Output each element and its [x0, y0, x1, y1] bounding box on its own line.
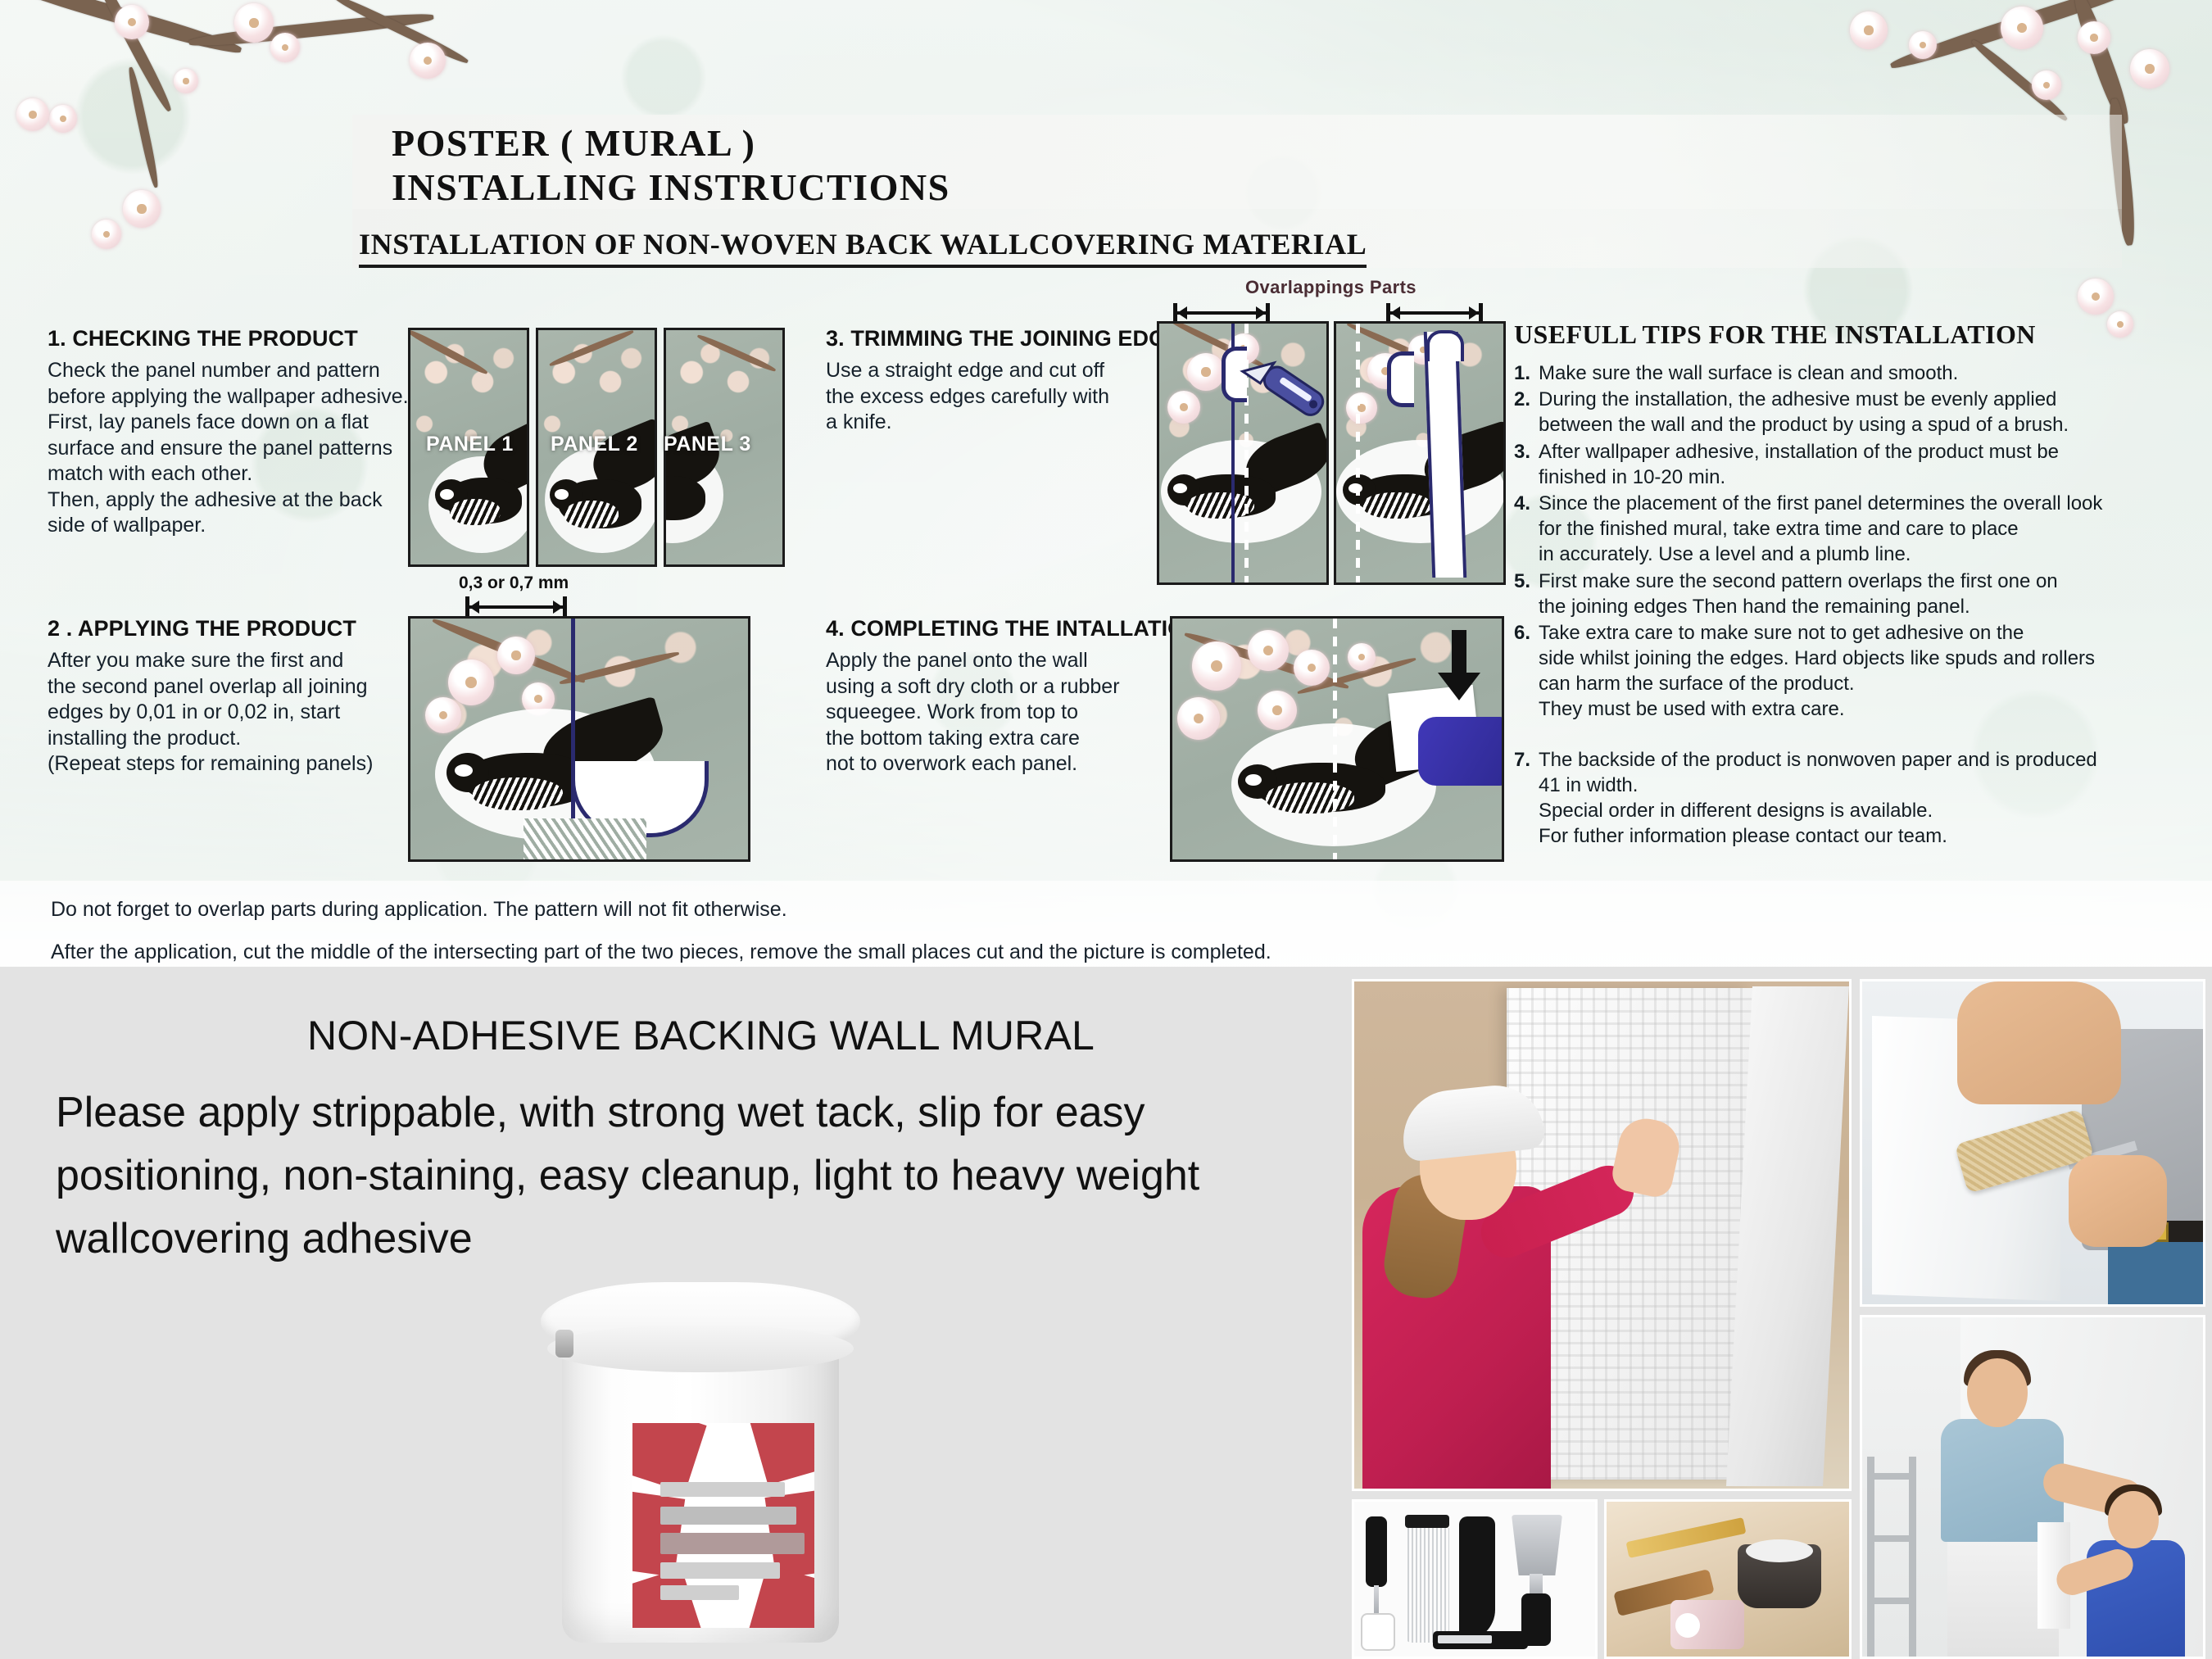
- tip-text: Take extra care to make sure not to get …: [1539, 620, 2095, 723]
- step-4-heading: 4. COMPLETING THE INTALLATION: [826, 616, 1170, 641]
- tip-line: The backside of the product is nonwoven …: [1539, 747, 2097, 773]
- overlap-measurement-label: 0,3 or 0,7 mm: [459, 573, 569, 593]
- photo-wallpaper-kit: [1604, 1499, 1852, 1659]
- diagram-step-3-knife: [1157, 321, 1329, 585]
- tip-line: in accurately. Use a level and a plumb l…: [1539, 542, 2102, 567]
- tip-number: 6.: [1514, 620, 1539, 723]
- seam-line-dashed: [1333, 619, 1337, 862]
- panel-2-label: PANEL 2: [551, 433, 638, 456]
- poster-subtitle: INSTALLATION OF NON-WOVEN BACK WALLCOVER…: [359, 227, 1367, 268]
- step-3-body: Use a straight edge and cut off the exce…: [826, 358, 1154, 436]
- tip-line: Special order in different designs is av…: [1539, 798, 2097, 823]
- note-line-2: After the application, cut the middle of…: [51, 941, 1271, 964]
- gloved-hand: [1418, 717, 1504, 786]
- tip-text: During the installation, the adhesive mu…: [1539, 387, 2069, 437]
- step-1-line-4: surface and ensure the panel patterns: [48, 436, 433, 462]
- cut-line-dashed: [1356, 324, 1360, 585]
- tip-number: 1.: [1514, 360, 1539, 386]
- ladder: [1867, 1457, 1916, 1659]
- diagram-step-2: [408, 616, 750, 862]
- step-1-text: 1. CHECKING THE PRODUCT Check the panel …: [48, 326, 433, 539]
- step-1-heading: 1. CHECKING THE PRODUCT: [48, 326, 433, 351]
- tip-text: Since the placement of the first panel d…: [1539, 491, 2102, 568]
- photo-collage: [1352, 979, 2205, 1659]
- tip-line: Make sure the wall surface is clean and …: [1539, 360, 1958, 386]
- step-4-line-1: Apply the panel onto the wall: [826, 648, 1170, 674]
- step-1-line-3: First, lay panels face down on a flat: [48, 410, 433, 436]
- tip-line: for the finished mural, take extra time …: [1539, 516, 2102, 542]
- overlap-ruler-right-icon: [1386, 303, 1483, 323]
- tip-line: For futher information please contact ou…: [1539, 823, 2097, 849]
- installation-poster: POSTER ( MURAL ) INSTALLING INSTRUCTIONS…: [0, 0, 2212, 1659]
- overlap-ruler-left-icon: [1173, 303, 1270, 323]
- diagram-step-4: [1170, 616, 1504, 862]
- step-4-line-5: not to overwork each panel.: [826, 751, 1170, 777]
- photo-roller-applying-paste: [1860, 979, 2205, 1307]
- tip-line: finished in 10-20 min.: [1539, 465, 2059, 490]
- tips-title: USEFULL TIPS FOR THE INSTALLATION: [1514, 320, 2036, 350]
- step-1-body: Check the panel number and pattern befor…: [48, 358, 433, 539]
- straight-edge-grip: [1387, 351, 1414, 407]
- tip-number: 3.: [1514, 439, 1539, 490]
- step-4-line-4: the bottom taking extra care: [826, 726, 1170, 752]
- product-copy-line-2: positioning, non-staining, easy cleanup,…: [56, 1145, 1334, 1208]
- tip-line: the joining edges Then hand the remainin…: [1539, 594, 2058, 619]
- step-2-text: 2 . APPLYING THE PRODUCT After you make …: [48, 616, 433, 777]
- down-arrow-icon: [1436, 630, 1482, 702]
- utility-knife-icon: [1238, 338, 1329, 437]
- measurement-ruler-icon: [465, 596, 567, 618]
- step-3-line-1: Use a straight edge and cut off: [826, 358, 1154, 384]
- tip-number: 2.: [1514, 387, 1539, 437]
- photo-tool-set: [1352, 1499, 1598, 1659]
- tip-line: 41 in width.: [1539, 773, 2097, 798]
- photo-woman-hanging-wallpaper: [1352, 979, 1852, 1491]
- tip-text: Make sure the wall surface is clean and …: [1539, 360, 1958, 386]
- step-2-line-4: installing the product.: [48, 726, 433, 752]
- tip-item: 7. The backside of the product is nonwov…: [1514, 747, 2194, 850]
- tip-item: 1. Make sure the wall surface is clean a…: [1514, 360, 2194, 386]
- tip-number: 4.: [1514, 491, 1539, 568]
- tip-line: They must be used with extra care.: [1539, 696, 2095, 722]
- step-1-line-7: side of wallpaper.: [48, 513, 433, 539]
- panel-3-label: PANEL 3: [664, 433, 751, 456]
- tip-line: side whilst joining the edges. Hard obje…: [1539, 646, 2095, 671]
- step-3-line-3: a knife.: [826, 410, 1154, 436]
- step-2-line-3: edges by 0,01 in or 0,02 in, start: [48, 700, 433, 726]
- product-copy-line-3: wallcovering adhesive: [56, 1208, 1334, 1271]
- step-2-body: After you make sure the first and the se…: [48, 648, 433, 777]
- step-1-line-6: Then, apply the adhesive at the back: [48, 487, 433, 514]
- tip-item: 6. Take extra care to make sure not to g…: [1514, 620, 2194, 723]
- step-2-line-2: the second panel overlap all joining: [48, 674, 433, 700]
- tip-text: After wallpaper adhesive, installation o…: [1539, 439, 2059, 490]
- adhesive-bucket: [541, 1282, 860, 1643]
- tip-item: 5. First make sure the second pattern ov…: [1514, 569, 2194, 619]
- diagram-step-3-straightedge: [1334, 321, 1506, 585]
- tip-number: 7.: [1514, 747, 1539, 850]
- step-1-line-5: match with each other.: [48, 461, 433, 487]
- panel-1-label: PANEL 1: [426, 433, 514, 456]
- tips-list: 1. Make sure the wall surface is clean a…: [1514, 360, 2194, 850]
- step-2-line-5: (Repeat steps for remaining panels): [48, 751, 433, 777]
- step-4-line-3: squeegee. Work from top to: [826, 700, 1170, 726]
- step-1-line-2: before applying the wallpaper adhesive.: [48, 384, 433, 410]
- poster-title-line2: INSTALLING INSTRUCTIONS: [392, 165, 950, 209]
- tip-item: 2. During the installation, the adhesive…: [1514, 387, 2194, 437]
- tip-line: After wallpaper adhesive, installation o…: [1539, 439, 2059, 465]
- product-copy: Please apply strippable, with strong wet…: [56, 1081, 1334, 1271]
- hatch-area: [524, 818, 646, 862]
- bucket-clip: [555, 1330, 573, 1358]
- overlapping-parts-label: Ovarlappings Parts: [1245, 277, 1416, 298]
- bucket-label: [632, 1423, 814, 1628]
- straight-edge-hook: [1426, 330, 1464, 361]
- tip-text: First make sure the second pattern overl…: [1539, 569, 2058, 619]
- photo-man-and-boy-hanging: [1860, 1315, 2205, 1659]
- step-3-text: 3. TRIMMING THE JOINING EDGES Use a stra…: [826, 326, 1154, 436]
- tip-item: 4. Since the placement of the first pane…: [1514, 491, 2194, 568]
- tip-line: First make sure the second pattern overl…: [1539, 569, 2058, 594]
- tip-item: 3. After wallpaper adhesive, installatio…: [1514, 439, 2194, 490]
- step-1-line-1: Check the panel number and pattern: [48, 358, 433, 384]
- tip-line: between the wall and the product by usin…: [1539, 412, 2069, 437]
- step-4-body: Apply the panel onto the wall using a so…: [826, 648, 1170, 777]
- product-copy-line-1: Please apply strippable, with strong wet…: [56, 1081, 1334, 1145]
- tip-line: Since the placement of the first panel d…: [1539, 491, 2102, 516]
- step-3-line-2: the excess edges carefully with: [826, 384, 1154, 410]
- tip-number: 5.: [1514, 569, 1539, 619]
- tip-line: During the installation, the adhesive mu…: [1539, 387, 2069, 412]
- step-4-text: 4. COMPLETING THE INTALLATION Apply the …: [826, 616, 1170, 777]
- tip-line: Take extra care to make sure not to get …: [1539, 620, 2095, 646]
- step-3-heading: 3. TRIMMING THE JOINING EDGES: [826, 326, 1154, 351]
- poster-title-line1: POSTER ( MURAL ): [392, 121, 755, 165]
- step-4-line-2: using a soft dry cloth or a rubber: [826, 674, 1170, 700]
- step-2-line-1: After you make sure the first and: [48, 648, 433, 674]
- product-title: NON-ADHESIVE BACKING WALL MURAL: [307, 1012, 1095, 1059]
- step-2-heading: 2 . APPLYING THE PRODUCT: [48, 616, 433, 641]
- instruction-sheet: POSTER ( MURAL ) INSTALLING INSTRUCTIONS…: [0, 0, 2212, 967]
- note-line-1: Do not forget to overlap parts during ap…: [51, 898, 787, 922]
- tip-text: The backside of the product is nonwoven …: [1539, 747, 2097, 850]
- tip-line: can harm the surface of the product.: [1539, 671, 2095, 696]
